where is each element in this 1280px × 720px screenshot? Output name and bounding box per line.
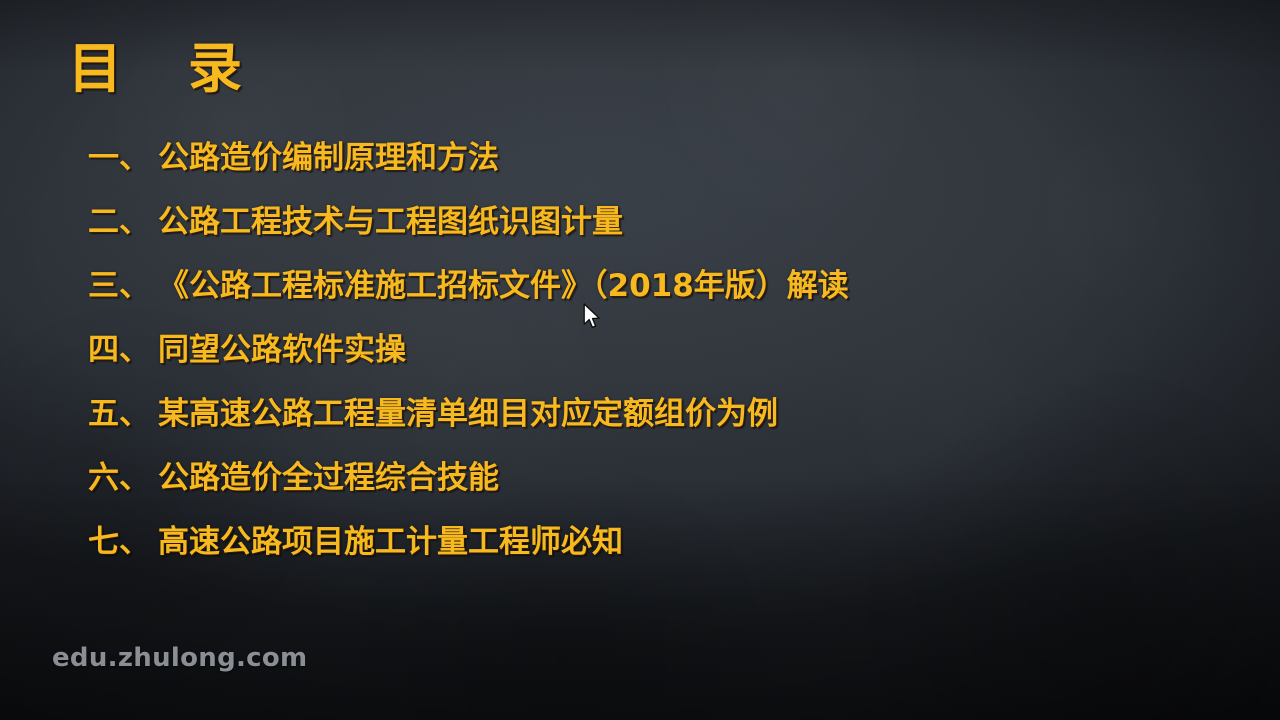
toc-item-label: 公路工程技术与工程图纸识图计量 <box>158 190 623 254</box>
slide-content: 目 录 一、公路造价编制原理和方法二、公路工程技术与工程图纸识图计量三、《公路工… <box>0 0 1280 720</box>
toc-item[interactable]: 二、公路工程技术与工程图纸识图计量 <box>0 190 1280 254</box>
toc-item-label: 公路造价全过程综合技能 <box>158 446 499 510</box>
page-title: 目 录 <box>68 38 248 100</box>
toc-item-number: 三、 <box>88 254 158 318</box>
toc-item-label: 公路造价编制原理和方法 <box>158 126 499 190</box>
site-watermark: edu.zhulong.com <box>52 643 307 673</box>
toc-item-number: 二、 <box>88 190 158 254</box>
toc-item[interactable]: 六、公路造价全过程综合技能 <box>0 446 1280 510</box>
toc-item-label: 《公路工程标准施工招标文件》（2018年版）解读 <box>158 254 849 318</box>
toc-item-label: 高速公路项目施工计量工程师必知 <box>158 510 623 574</box>
toc-item[interactable]: 三、《公路工程标准施工招标文件》（2018年版）解读 <box>0 254 1280 318</box>
toc-item[interactable]: 四、同望公路软件实操 <box>0 318 1280 382</box>
toc-item-number: 六、 <box>88 446 158 510</box>
toc-item[interactable]: 一、公路造价编制原理和方法 <box>0 126 1280 190</box>
toc-item-number: 五、 <box>88 382 158 446</box>
table-of-contents-list: 一、公路造价编制原理和方法二、公路工程技术与工程图纸识图计量三、《公路工程标准施… <box>0 126 1280 574</box>
toc-item-label: 某高速公路工程量清单细目对应定额组价为例 <box>158 382 778 446</box>
presentation-slide: 目 录 一、公路造价编制原理和方法二、公路工程技术与工程图纸识图计量三、《公路工… <box>0 0 1280 720</box>
toc-item[interactable]: 五、某高速公路工程量清单细目对应定额组价为例 <box>0 382 1280 446</box>
toc-item-label: 同望公路软件实操 <box>158 318 406 382</box>
toc-item-number: 七、 <box>88 510 158 574</box>
toc-item-number: 一、 <box>88 126 158 190</box>
toc-item-number: 四、 <box>88 318 158 382</box>
toc-item[interactable]: 七、高速公路项目施工计量工程师必知 <box>0 510 1280 574</box>
